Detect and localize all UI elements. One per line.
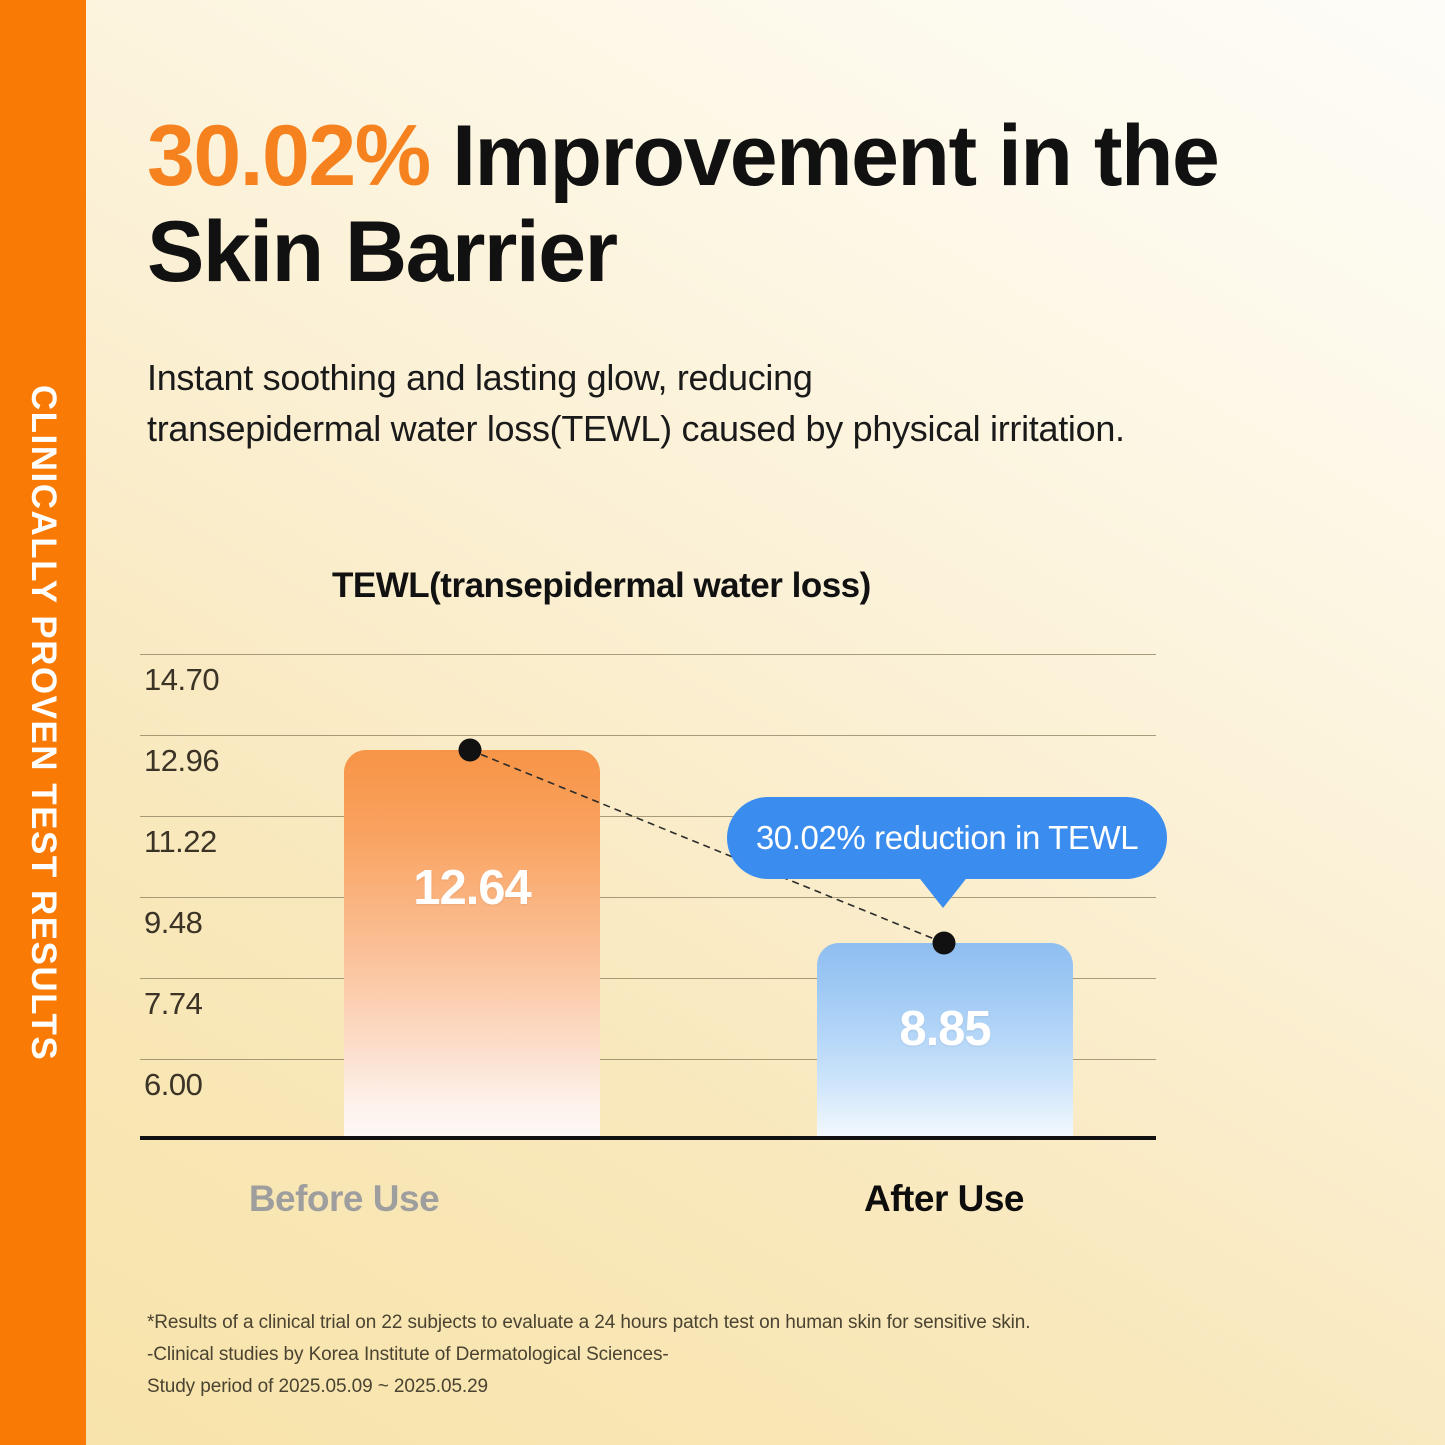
subtitle-line-1: Instant soothing and lasting glow, reduc… — [147, 357, 813, 398]
y-axis-tick-label: 12.96 — [144, 743, 219, 779]
x-axis-label-after-use: After Use — [794, 1178, 1094, 1220]
reduction-callout-text: 30.02% reduction in TEWL — [756, 819, 1138, 857]
data-point-dot-after — [933, 932, 956, 955]
bar-after-use: 8.85 — [817, 943, 1073, 1136]
headline-highlight-percent: 30.02% — [147, 108, 430, 204]
footnote-line-2: -Clinical studies by Korea Institute of … — [147, 1339, 1147, 1371]
vertical-rail-label: CLINICALLY PROVEN TEST RESULTS — [23, 384, 63, 1060]
bar-value-after: 8.85 — [817, 1001, 1073, 1057]
data-point-dot-before — [459, 739, 482, 762]
promo-canvas: CLINICALLY PROVEN TEST RESULTS 30.02% Im… — [0, 0, 1445, 1445]
chart-plot-area: 14.70 12.96 11.22 9.48 7.74 6.00 12.64 8… — [140, 640, 1156, 1140]
gridline — [140, 654, 1156, 655]
gridline — [140, 897, 1156, 898]
y-axis-tick-label: 11.22 — [144, 824, 217, 860]
callout-pointer-triangle — [917, 875, 969, 908]
subtitle-line-2: transepidermal water loss(TEWL) caused b… — [147, 408, 1125, 449]
page-title: 30.02% Improvement in the Skin Barrier — [147, 108, 1327, 301]
gridline — [140, 735, 1156, 736]
footnote-block: *Results of a clinical trial on 22 subje… — [147, 1307, 1147, 1403]
chart-title: TEWL(transepidermal water loss) — [332, 566, 871, 606]
x-axis-baseline — [140, 1136, 1156, 1140]
bar-before-use: 12.64 — [344, 750, 600, 1136]
y-axis-tick-label: 14.70 — [144, 662, 219, 698]
x-axis-label-before-use: Before Use — [194, 1178, 494, 1220]
footnote-line-3: Study period of 2025.05.09 ~ 2025.05.29 — [147, 1371, 1147, 1403]
y-axis-tick-label: 9.48 — [144, 905, 202, 941]
vertical-accent-rail: CLINICALLY PROVEN TEST RESULTS — [0, 0, 86, 1445]
y-axis-tick-label: 6.00 — [144, 1067, 202, 1103]
bar-value-before: 12.64 — [344, 860, 600, 916]
footnote-line-1: *Results of a clinical trial on 22 subje… — [147, 1307, 1147, 1339]
y-axis-tick-label: 7.74 — [144, 986, 202, 1022]
reduction-callout-bubble: 30.02% reduction in TEWL — [727, 797, 1167, 879]
subtitle: Instant soothing and lasting glow, reduc… — [147, 352, 1377, 454]
